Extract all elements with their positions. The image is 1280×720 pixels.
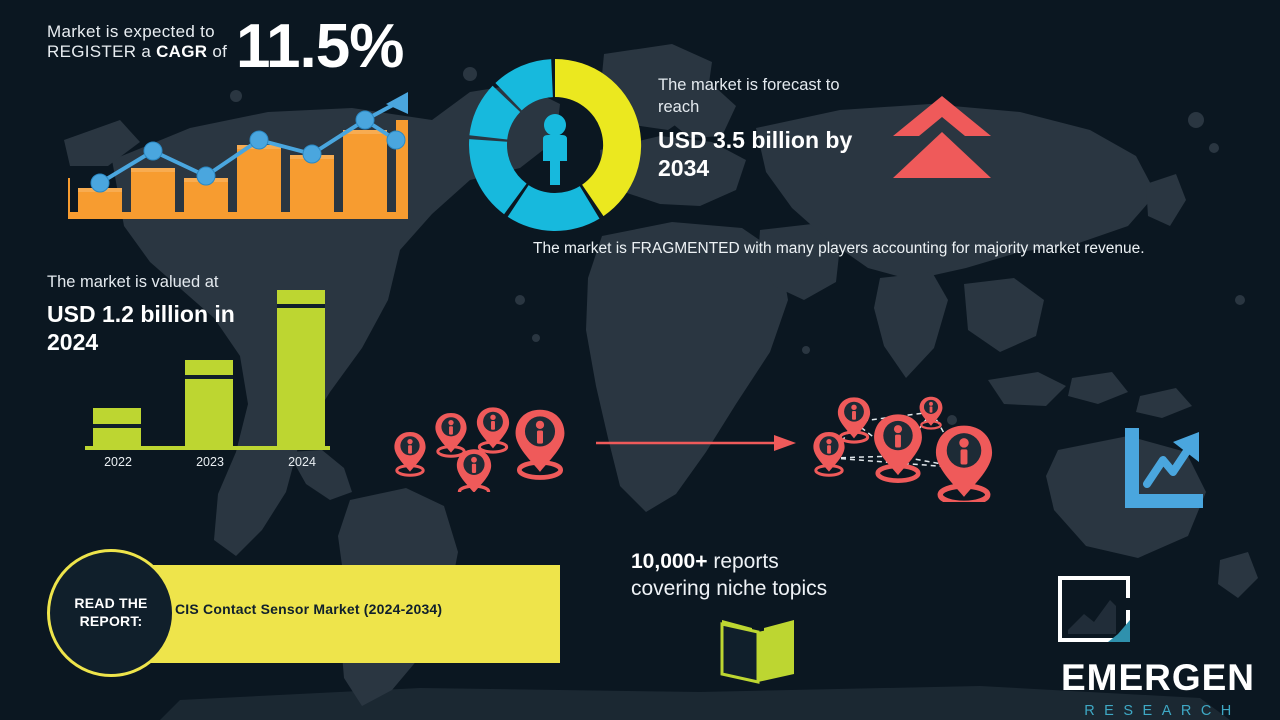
reports-line-1: 10,000+ reports xyxy=(631,548,827,575)
read-the-report-label: READ THE REPORT: xyxy=(50,595,172,631)
logo-name: EMERGEN xyxy=(1058,659,1258,696)
valuation-axis-label-2022: 2022 xyxy=(88,455,148,469)
square-chart-logo-icon xyxy=(1058,576,1130,648)
map-pin-cluster-left xyxy=(382,386,582,492)
map-pin-network-right xyxy=(806,386,1016,502)
logo-subtitle: RESEARCH xyxy=(1058,703,1258,719)
double-chevron-up-icon xyxy=(893,96,991,178)
cagr-suffix: of xyxy=(207,42,227,61)
cagr-text-block: Market is expected to REGISTER a CAGR of xyxy=(47,22,227,62)
emergen-research-logo: EMERGEN RESEARCH xyxy=(1058,576,1258,719)
person-icon xyxy=(543,114,567,185)
forecast-value: USD 3.5 billion by 2034 xyxy=(658,126,883,182)
cagr-line-1: Market is expected to xyxy=(47,22,227,42)
cagr-value: 11.5% xyxy=(236,16,403,78)
growth-chart-icon xyxy=(68,88,408,220)
open-book-icon xyxy=(718,612,798,684)
reports-block: 10,000+ reports covering niche topics xyxy=(631,548,827,603)
forecast-block: The market is forecast to reach USD 3.5 … xyxy=(658,75,883,182)
valuation-bar-chart xyxy=(85,290,330,450)
read-the-report-button[interactable]: READ THE REPORT: xyxy=(47,549,175,677)
market-share-donut-chart xyxy=(462,52,648,238)
cagr-line-2: REGISTER a CAGR of xyxy=(47,42,227,62)
reports-count-suffix: reports xyxy=(708,550,779,573)
cagr-prefix: REGISTER a xyxy=(47,42,156,61)
reports-line-2: covering niche topics xyxy=(631,575,827,602)
report-title: CIS Contact Sensor Market (2024-2034) xyxy=(175,601,442,617)
valuation-axis-label-2023: 2023 xyxy=(180,455,240,469)
valuation-axis-label-2024: 2024 xyxy=(272,455,332,469)
infographic-canvas: Market is expected to REGISTER a CAGR of… xyxy=(0,0,1280,720)
fragmentation-text: The market is FRAGMENTED with many playe… xyxy=(533,238,1233,260)
right-arrow-icon xyxy=(596,432,796,454)
growth-statistics-icon xyxy=(1123,428,1203,510)
cagr-keyword: CAGR xyxy=(156,42,207,61)
reports-count: 10,000+ xyxy=(631,550,708,573)
forecast-lede: The market is forecast to reach xyxy=(658,75,883,119)
